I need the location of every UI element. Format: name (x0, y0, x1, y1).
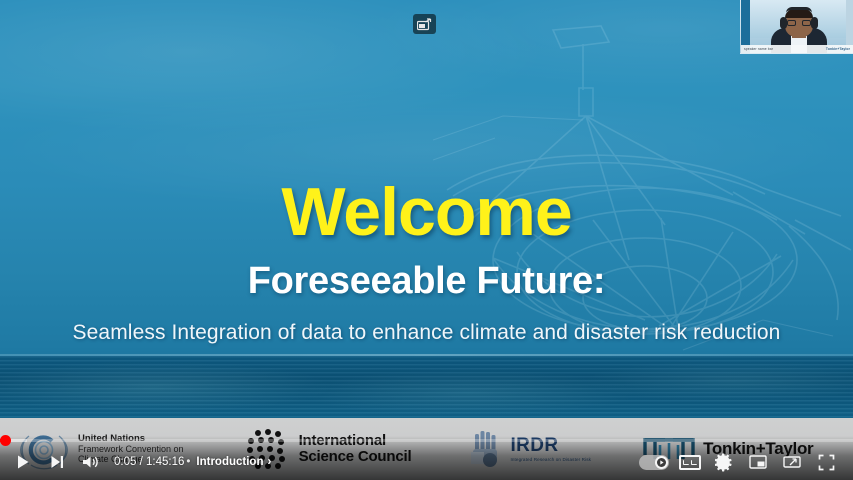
slide-welcome-title: Welcome (0, 178, 853, 246)
fullscreen-button[interactable] (809, 445, 843, 479)
webcam-footer-right: Tonkin+Taylor (826, 47, 850, 51)
webcam-footer-bar: speaker name bar Tonkin+Taylor (741, 45, 853, 53)
theater-mode-icon (783, 454, 801, 470)
chapter-bullet: • (186, 456, 190, 468)
chapter-chevron-icon: › (267, 456, 271, 468)
next-track-icon (49, 454, 65, 470)
slide-background: Welcome Foreseeable Future: Seamless Int… (0, 0, 853, 480)
play-button[interactable] (6, 445, 40, 479)
autoplay-toggle[interactable] (639, 445, 673, 479)
slide-subtitle: Seamless Integration of data to enhance … (0, 321, 853, 345)
player-control-bar[interactable]: 0:05 / 1:45:16 • Introduction › (0, 436, 853, 480)
headphone-right-cup-icon (811, 17, 818, 29)
slide-headline: Foreseeable Future: (0, 260, 853, 303)
captions-button[interactable] (673, 445, 707, 479)
picture-in-picture-icon (417, 18, 432, 31)
sea-band (0, 356, 853, 418)
autoplay-icon (657, 458, 666, 467)
chapter-indicator[interactable]: • Introduction › (186, 456, 271, 468)
progress-bar[interactable] (0, 439, 853, 442)
chapter-title: Introduction (196, 456, 263, 468)
headphone-band-icon (786, 7, 812, 13)
webcam-footer-left: speaker name bar (744, 47, 773, 51)
play-icon (15, 454, 31, 470)
presenter-webcam-overlay[interactable]: speaker name bar Tonkin+Taylor (740, 0, 853, 54)
headphone-left-cup-icon (780, 17, 787, 29)
settings-button[interactable] (707, 445, 741, 479)
next-button[interactable] (40, 445, 74, 479)
time-separator: / (140, 456, 143, 468)
miniplayer-button[interactable] (741, 445, 775, 479)
current-time: 0:05 (114, 456, 136, 468)
miniplayer-icon (749, 454, 767, 470)
volume-icon (82, 454, 100, 470)
total-time: 1:45:16 (146, 456, 184, 468)
fullscreen-icon (818, 454, 835, 471)
autoplay-switch-knob (655, 456, 668, 469)
gear-icon (715, 453, 734, 472)
slide-text-block: Welcome Foreseeable Future: Seamless Int… (0, 178, 853, 345)
theater-button[interactable] (775, 445, 809, 479)
video-player[interactable]: Welcome Foreseeable Future: Seamless Int… (0, 0, 853, 480)
closed-captions-icon (679, 455, 701, 470)
autoplay-switch-track[interactable] (639, 455, 669, 470)
volume-button[interactable] (74, 445, 108, 479)
picture-in-picture-overlay-button[interactable] (413, 14, 436, 34)
eyeglasses-icon (787, 20, 811, 26)
time-display: 0:05 / 1:45:16 (114, 456, 184, 468)
